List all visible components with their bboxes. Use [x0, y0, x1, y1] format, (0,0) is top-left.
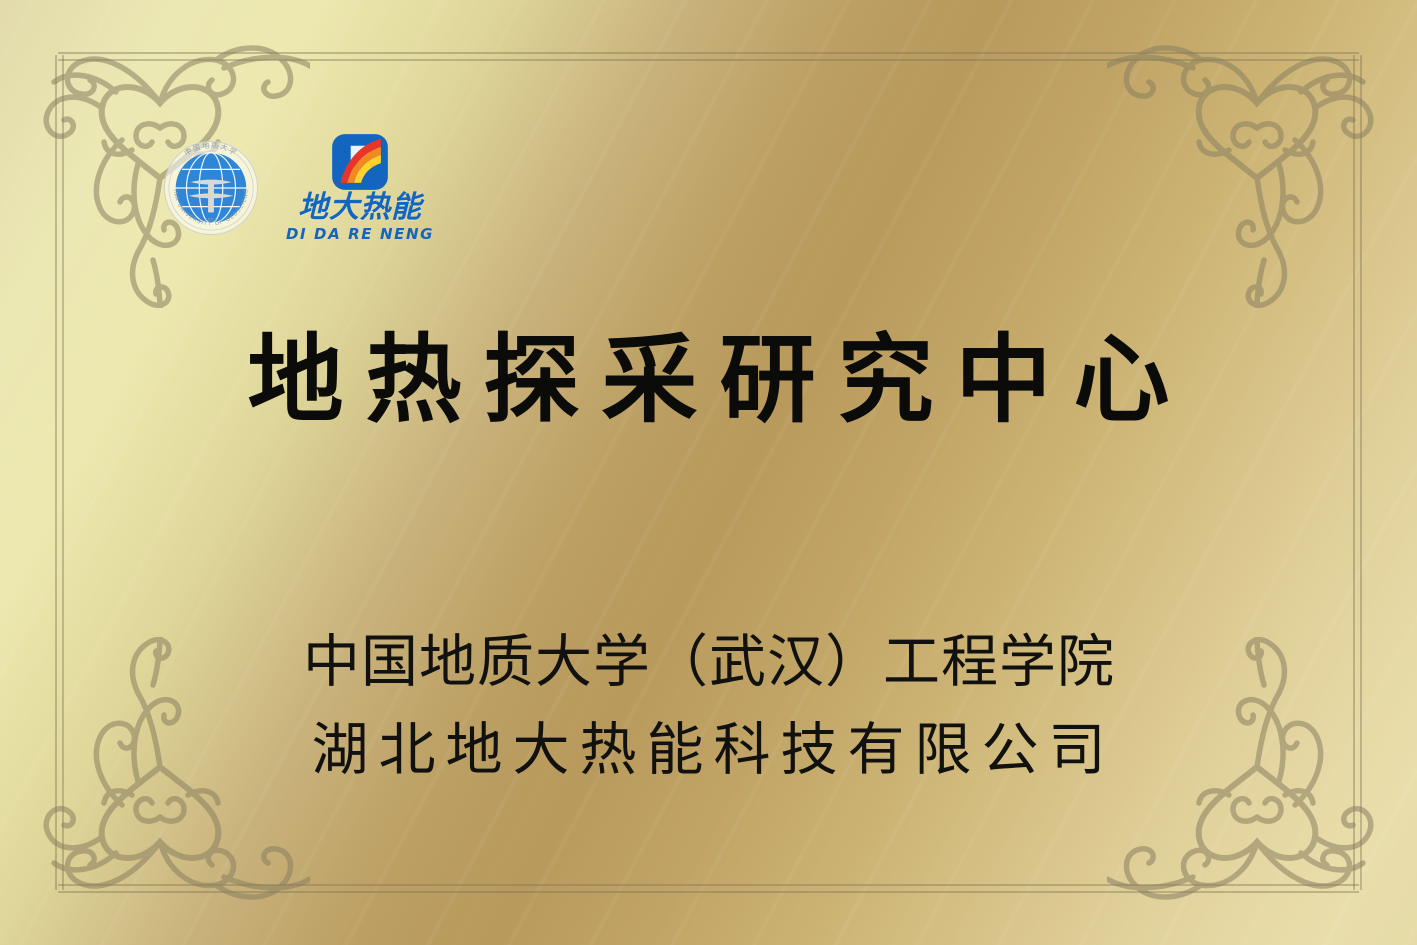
subtitle-line-university: 中国地质大学（武汉）工程学院	[0, 618, 1417, 706]
didareneng-logo-icon	[331, 133, 389, 191]
company-name-cn: 地大热能	[298, 193, 422, 223]
filigree-scroll-ornament-icon	[1107, 8, 1407, 308]
svg-text:1952: 1952	[204, 217, 217, 223]
company-logo: 地大热能 DI DA RE NENG	[286, 133, 434, 243]
frame-top-line	[58, 52, 1359, 61]
university-seal-icon: 中国地质大学 CHINA UNIVERSITY OF GEOSCIENCES 1…	[162, 139, 260, 237]
company-name-en: DI DA RE NENG	[286, 226, 434, 243]
page-title: 地热探采研究中心	[0, 330, 1417, 431]
frame-bottom-line	[58, 884, 1359, 893]
logo-row: 中国地质大学 CHINA UNIVERSITY OF GEOSCIENCES 1…	[162, 133, 434, 243]
subtitle-line-company: 湖北地大热能科技有限公司	[0, 706, 1417, 794]
award-plaque: 中国地质大学 CHINA UNIVERSITY OF GEOSCIENCES 1…	[0, 0, 1417, 945]
university-seal-logo: 中国地质大学 CHINA UNIVERSITY OF GEOSCIENCES 1…	[162, 139, 260, 237]
subtitle-block: 中国地质大学（武汉）工程学院 湖北地大热能科技有限公司	[0, 618, 1417, 795]
